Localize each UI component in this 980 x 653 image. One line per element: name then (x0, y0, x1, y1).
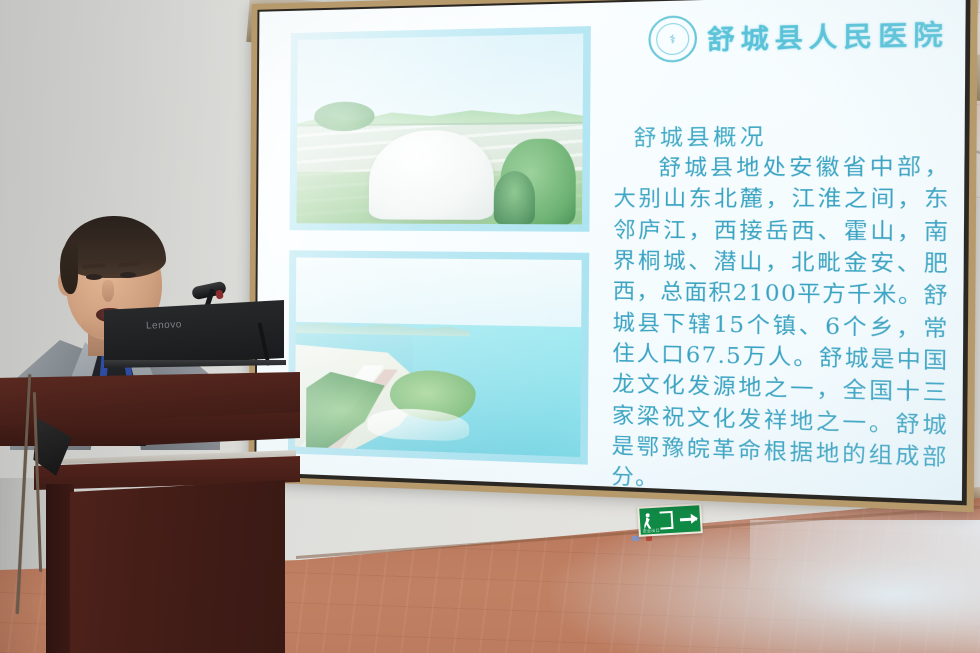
laptop-lid: Lenovo (104, 300, 284, 368)
wall-indicator-light (646, 536, 652, 541)
slide-body-text: 舒城县地处安徽省中部，大别山东北麓，江淮之间，东邻庐江，西接岳西、霍山，南界桐城… (611, 151, 950, 501)
eye-left (86, 274, 102, 280)
lenovo-logo: Lenovo (146, 319, 182, 331)
exit-door-icon (659, 511, 673, 530)
hospital-name: 舒城县人民医院 (707, 13, 949, 57)
slide-title: 舒城县概况 (633, 120, 767, 153)
floor-light-reflection-2 (750, 520, 980, 653)
exit-sign-label: 安全出口 (642, 528, 660, 535)
photo1-bush-2 (494, 171, 535, 224)
emergency-exit-sign: 安全出口 (637, 503, 703, 537)
slide-header: ⚕ 舒城县人民医院 (648, 9, 949, 63)
slide-paragraph: 舒城县地处安徽省中部，大别山东北麓，江淮之间，东邻庐江，西接岳西、霍山，南界桐城… (611, 151, 950, 501)
lectern-shadow (0, 478, 64, 653)
eye-right (120, 272, 136, 278)
projection-screen-frame: ⚕ 舒城县人民医院 (248, 0, 977, 512)
right-arrow-icon (679, 517, 696, 521)
hospital-emblem-glyph: ⚕ (669, 32, 676, 46)
lectern-front-panel (70, 480, 285, 653)
presentation-room-photo: 安全出口 ⚕ 舒城县人民医院 (0, 0, 980, 653)
wall-socket (632, 536, 639, 541)
boulder-landscape-photo (290, 26, 591, 232)
nose (102, 280, 114, 302)
lake-aerial-photo (288, 250, 589, 464)
lectern (0, 372, 300, 653)
hair-sideburn (60, 244, 78, 294)
presentation-slide: ⚕ 舒城县人民医院 (256, 0, 965, 501)
hospital-emblem-icon: ⚕ (648, 15, 697, 63)
projection-screen: ⚕ 舒城县人民医院 (256, 0, 965, 501)
